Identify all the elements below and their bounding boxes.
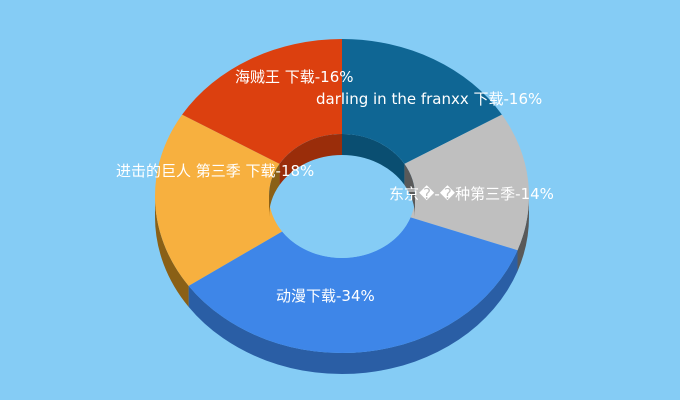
pie-slice-tops (155, 39, 529, 353)
pie-chart-canvas: darling in the franxx 下载-16%东京�-�种第三季-14… (0, 0, 680, 400)
pie-chart-svg (0, 0, 680, 400)
